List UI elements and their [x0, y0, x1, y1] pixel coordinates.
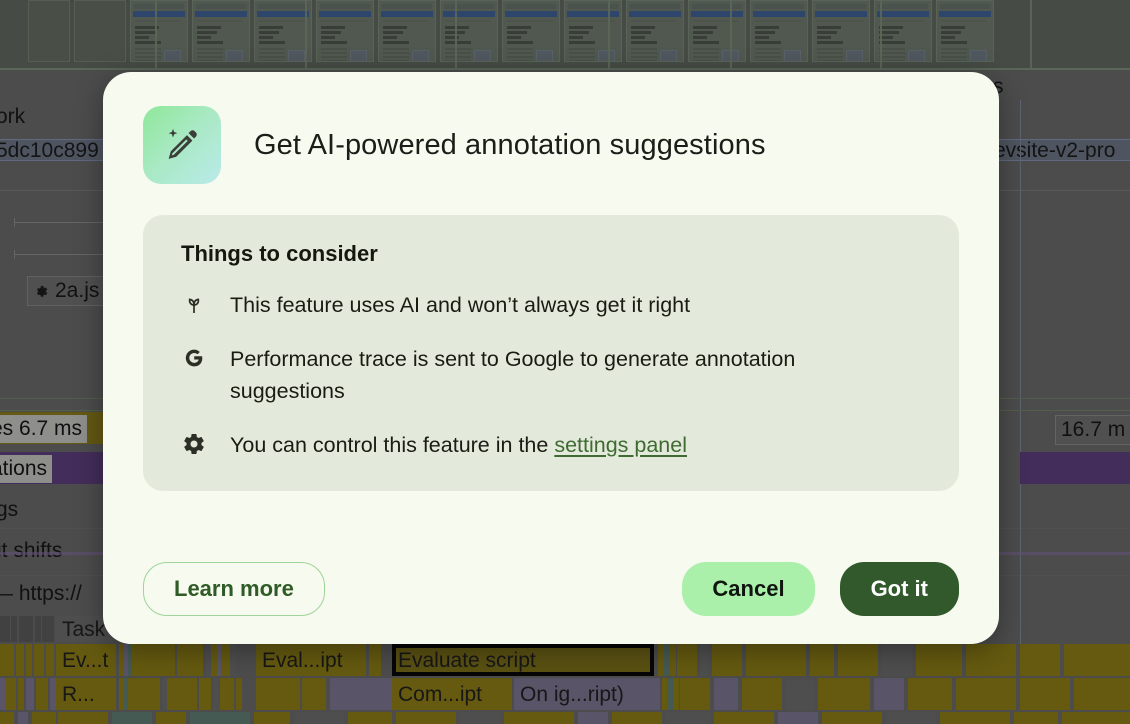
got-it-button[interactable]: Got it — [840, 562, 959, 616]
consideration-text: This feature uses AI and won’t always ge… — [230, 289, 690, 321]
dialog-title: Get AI-powered annotation suggestions — [254, 129, 766, 162]
screen: ork s 5dc10c899 evsite-v2-pro 2a.js es 6… — [0, 0, 1130, 724]
consideration-item-settings: You can control this feature in the sett… — [181, 429, 929, 461]
consideration-item-ai-accuracy: This feature uses AI and won’t always ge… — [181, 289, 929, 321]
considerations-list: This feature uses AI and won’t always ge… — [181, 289, 929, 461]
dialog-actions: Cancel Got it — [682, 562, 959, 616]
learn-more-button[interactable]: Learn more — [143, 562, 325, 616]
settings-panel-link[interactable]: settings panel — [554, 433, 687, 457]
sprout-icon — [181, 291, 207, 317]
consideration-text: You can control this feature in the sett… — [230, 429, 687, 461]
magic-wand-pencil-icon — [143, 106, 221, 184]
things-to-consider-card: Things to consider This feature uses AI … — [143, 215, 959, 491]
consideration-text: Performance trace is sent to Google to g… — [230, 343, 890, 407]
consideration-item-data-sharing: Performance trace is sent to Google to g… — [181, 343, 929, 407]
google-g-icon — [181, 345, 207, 371]
gear-icon — [181, 431, 207, 457]
things-to-consider-heading: Things to consider — [181, 241, 929, 267]
dialog-header: Get AI-powered annotation suggestions — [143, 106, 959, 184]
consideration-text-before: You can control this feature in the — [230, 433, 554, 457]
cancel-button[interactable]: Cancel — [682, 562, 814, 616]
ai-annotations-dialog: Get AI-powered annotation suggestions Th… — [103, 72, 999, 644]
dialog-footer: Learn more Cancel Got it — [143, 562, 959, 616]
